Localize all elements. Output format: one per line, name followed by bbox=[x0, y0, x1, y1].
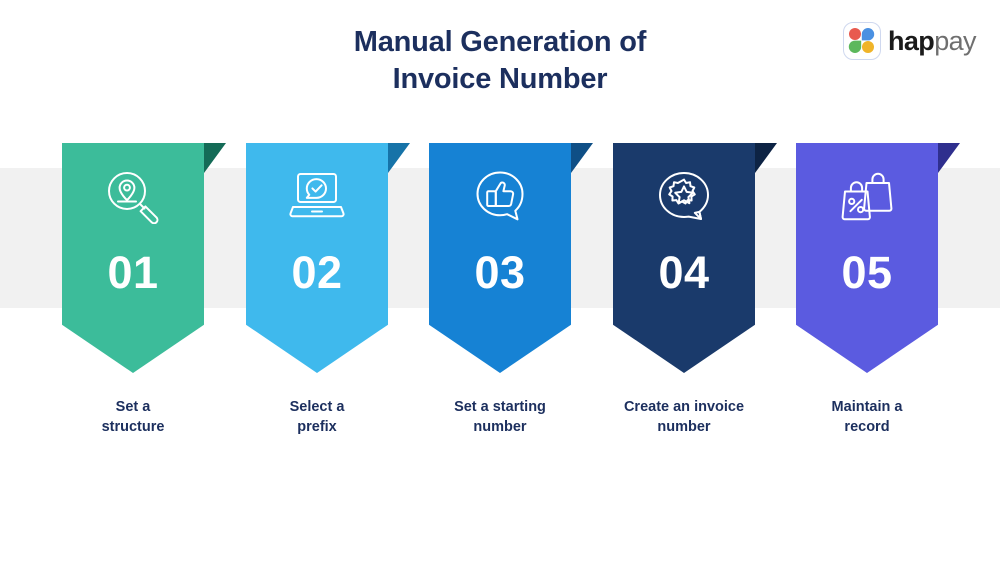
step-caption-05: Maintain a record bbox=[782, 398, 952, 437]
step-caption-01-line-2: structure bbox=[48, 418, 218, 438]
step-number-02: 02 bbox=[246, 250, 388, 295]
step-banner-fold-04 bbox=[755, 143, 777, 173]
step-caption-03-line-1: Set a starting bbox=[415, 398, 585, 418]
step-banner-fold-02 bbox=[388, 143, 410, 173]
step-caption-04-line-1: Create an invoice bbox=[599, 398, 769, 418]
step-item-01[interactable]: 01 Set a structure bbox=[62, 143, 204, 373]
step-caption-05-line-1: Maintain a bbox=[782, 398, 952, 418]
step-banner-02: 02 bbox=[246, 143, 388, 373]
step-item-02[interactable]: 02 Select a prefix bbox=[246, 143, 388, 373]
infographic-canvas: Manual Generation of Invoice Number happ… bbox=[0, 0, 1000, 564]
step-banner-01: 01 bbox=[62, 143, 204, 373]
step-banner-fold-05 bbox=[938, 143, 960, 173]
step-caption-01-line-1: Set a bbox=[48, 398, 218, 418]
step-caption-02-line-1: Select a bbox=[232, 398, 402, 418]
step-item-05[interactable]: 05 Maintain a record bbox=[796, 143, 938, 373]
step-caption-02-line-2: prefix bbox=[232, 418, 402, 438]
step-banner-fold-01 bbox=[204, 143, 226, 173]
step-caption-03-line-2: number bbox=[415, 418, 585, 438]
step-caption-01: Set a structure bbox=[48, 398, 218, 437]
step-banner-fold-03 bbox=[571, 143, 593, 173]
steps-row: 01 Set a structure bbox=[0, 0, 1000, 564]
step-number-01: 01 bbox=[62, 250, 204, 295]
laptop-check-bubble-icon bbox=[246, 165, 388, 227]
step-number-03: 03 bbox=[429, 250, 571, 295]
star-badge-icon bbox=[613, 165, 755, 227]
step-banner-03: 03 bbox=[429, 143, 571, 373]
step-number-04: 04 bbox=[613, 250, 755, 295]
step-caption-02: Select a prefix bbox=[232, 398, 402, 437]
magnifier-location-pin-icon bbox=[62, 165, 204, 227]
step-caption-04-line-2: number bbox=[599, 418, 769, 438]
step-caption-04: Create an invoice number bbox=[599, 398, 769, 437]
shopping-bags-percent-icon bbox=[796, 165, 938, 227]
step-number-05: 05 bbox=[796, 250, 938, 295]
step-banner-05: 05 bbox=[796, 143, 938, 373]
step-banner-04: 04 bbox=[613, 143, 755, 373]
step-caption-03: Set a starting number bbox=[415, 398, 585, 437]
step-item-04[interactable]: 04 Create an invoice number bbox=[613, 143, 755, 373]
step-item-03[interactable]: 03 Set a starting number bbox=[429, 143, 571, 373]
step-caption-05-line-2: record bbox=[782, 418, 952, 438]
thumbs-up-bubble-icon bbox=[429, 165, 571, 227]
